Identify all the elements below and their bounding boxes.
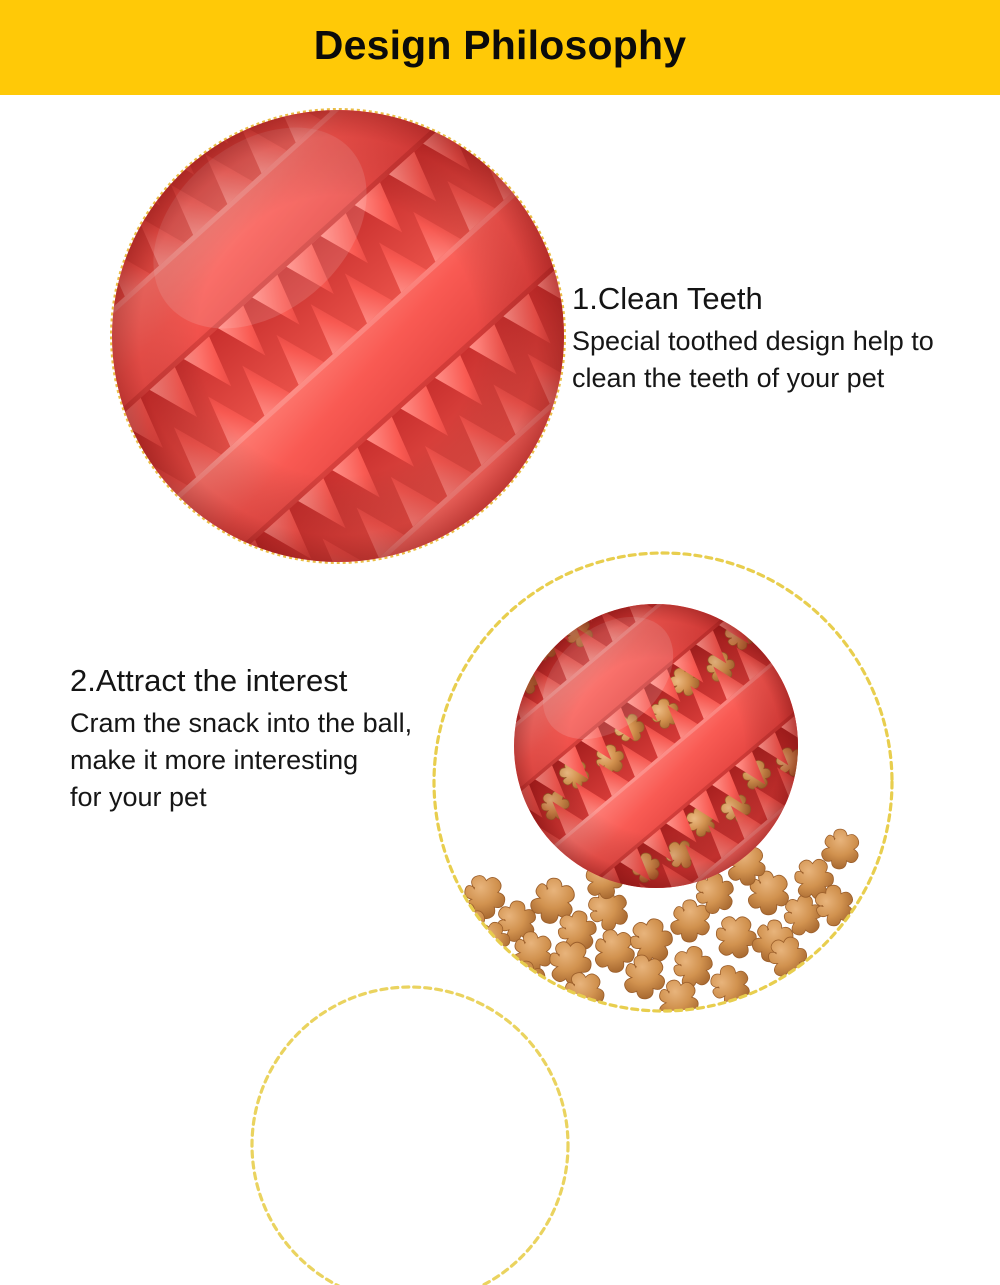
feature-body-line: Special toothed design help to bbox=[572, 323, 934, 360]
partial-dashed-circle-stroke bbox=[252, 987, 568, 1285]
feature-body-clean-teeth: Special toothed design help to clean the… bbox=[572, 323, 934, 398]
feature-heading-clean-teeth: 1.Clean Teeth bbox=[572, 281, 934, 318]
feature-body-attract-the-interest: Cram the snack into the ball, make it mo… bbox=[70, 705, 412, 817]
feature-block-attract-the-interest: 2.Attract the interest Cram the snack in… bbox=[70, 663, 412, 816]
feature-heading-attract-the-interest: 2.Attract the interest bbox=[70, 663, 412, 700]
feature-body-line: for your pet bbox=[70, 779, 412, 816]
feature-body-line: clean the teeth of your pet bbox=[572, 360, 934, 397]
feature-image-attract-the-interest bbox=[512, 602, 800, 890]
feature-image-clean-teeth bbox=[110, 108, 566, 564]
feature-block-clean-teeth: 1.Clean Teeth Special toothed design hel… bbox=[572, 281, 934, 397]
partial-dashed-highlight-circle bbox=[180, 985, 640, 1285]
header-banner: Design Philosophy bbox=[0, 0, 1000, 95]
page-title: Design Philosophy bbox=[314, 25, 686, 66]
feature-body-line: make it more interesting bbox=[70, 742, 412, 779]
feature-body-line: Cram the snack into the ball, bbox=[70, 705, 412, 742]
